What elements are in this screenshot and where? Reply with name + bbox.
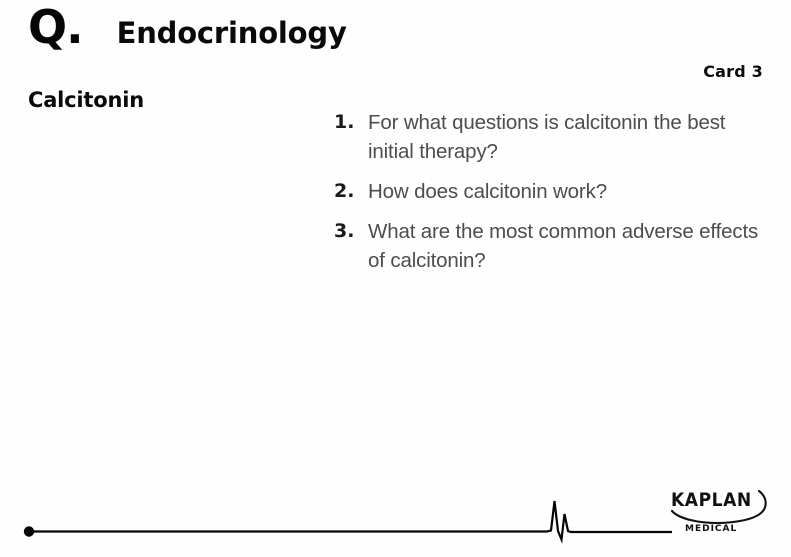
question-number: 2. bbox=[334, 177, 368, 206]
question-number: 1. bbox=[334, 108, 368, 137]
question-text: How does calcitonin work? bbox=[368, 177, 764, 206]
question-number: 3. bbox=[334, 217, 368, 246]
page-title: Endocrinology bbox=[117, 19, 347, 48]
question-list: 1. For what questions is calcitonin the … bbox=[334, 108, 764, 286]
topic-label: Calcitonin bbox=[28, 88, 144, 112]
list-item: 3. What are the most common adverse effe… bbox=[334, 217, 764, 275]
question-marker: Q. bbox=[28, 4, 83, 50]
kaplan-medical-logo: KAPLAN MEDICAL bbox=[663, 485, 775, 541]
card-number-label: Card 3 bbox=[703, 62, 763, 81]
list-item: 2. How does calcitonin work? bbox=[334, 177, 764, 206]
list-item: 1. For what questions is calcitonin the … bbox=[334, 108, 764, 166]
question-text: For what questions is calcitonin the bes… bbox=[368, 108, 764, 166]
question-text: What are the most common adverse effects… bbox=[368, 217, 764, 275]
logo-subtitle: MEDICAL bbox=[685, 524, 737, 534]
logo-wordmark: KAPLAN bbox=[671, 489, 752, 511]
card-header: Q. Endocrinology bbox=[28, 4, 347, 50]
flashcard-page: Q. Endocrinology Card 3 Calcitonin 1. Fo… bbox=[0, 0, 791, 557]
